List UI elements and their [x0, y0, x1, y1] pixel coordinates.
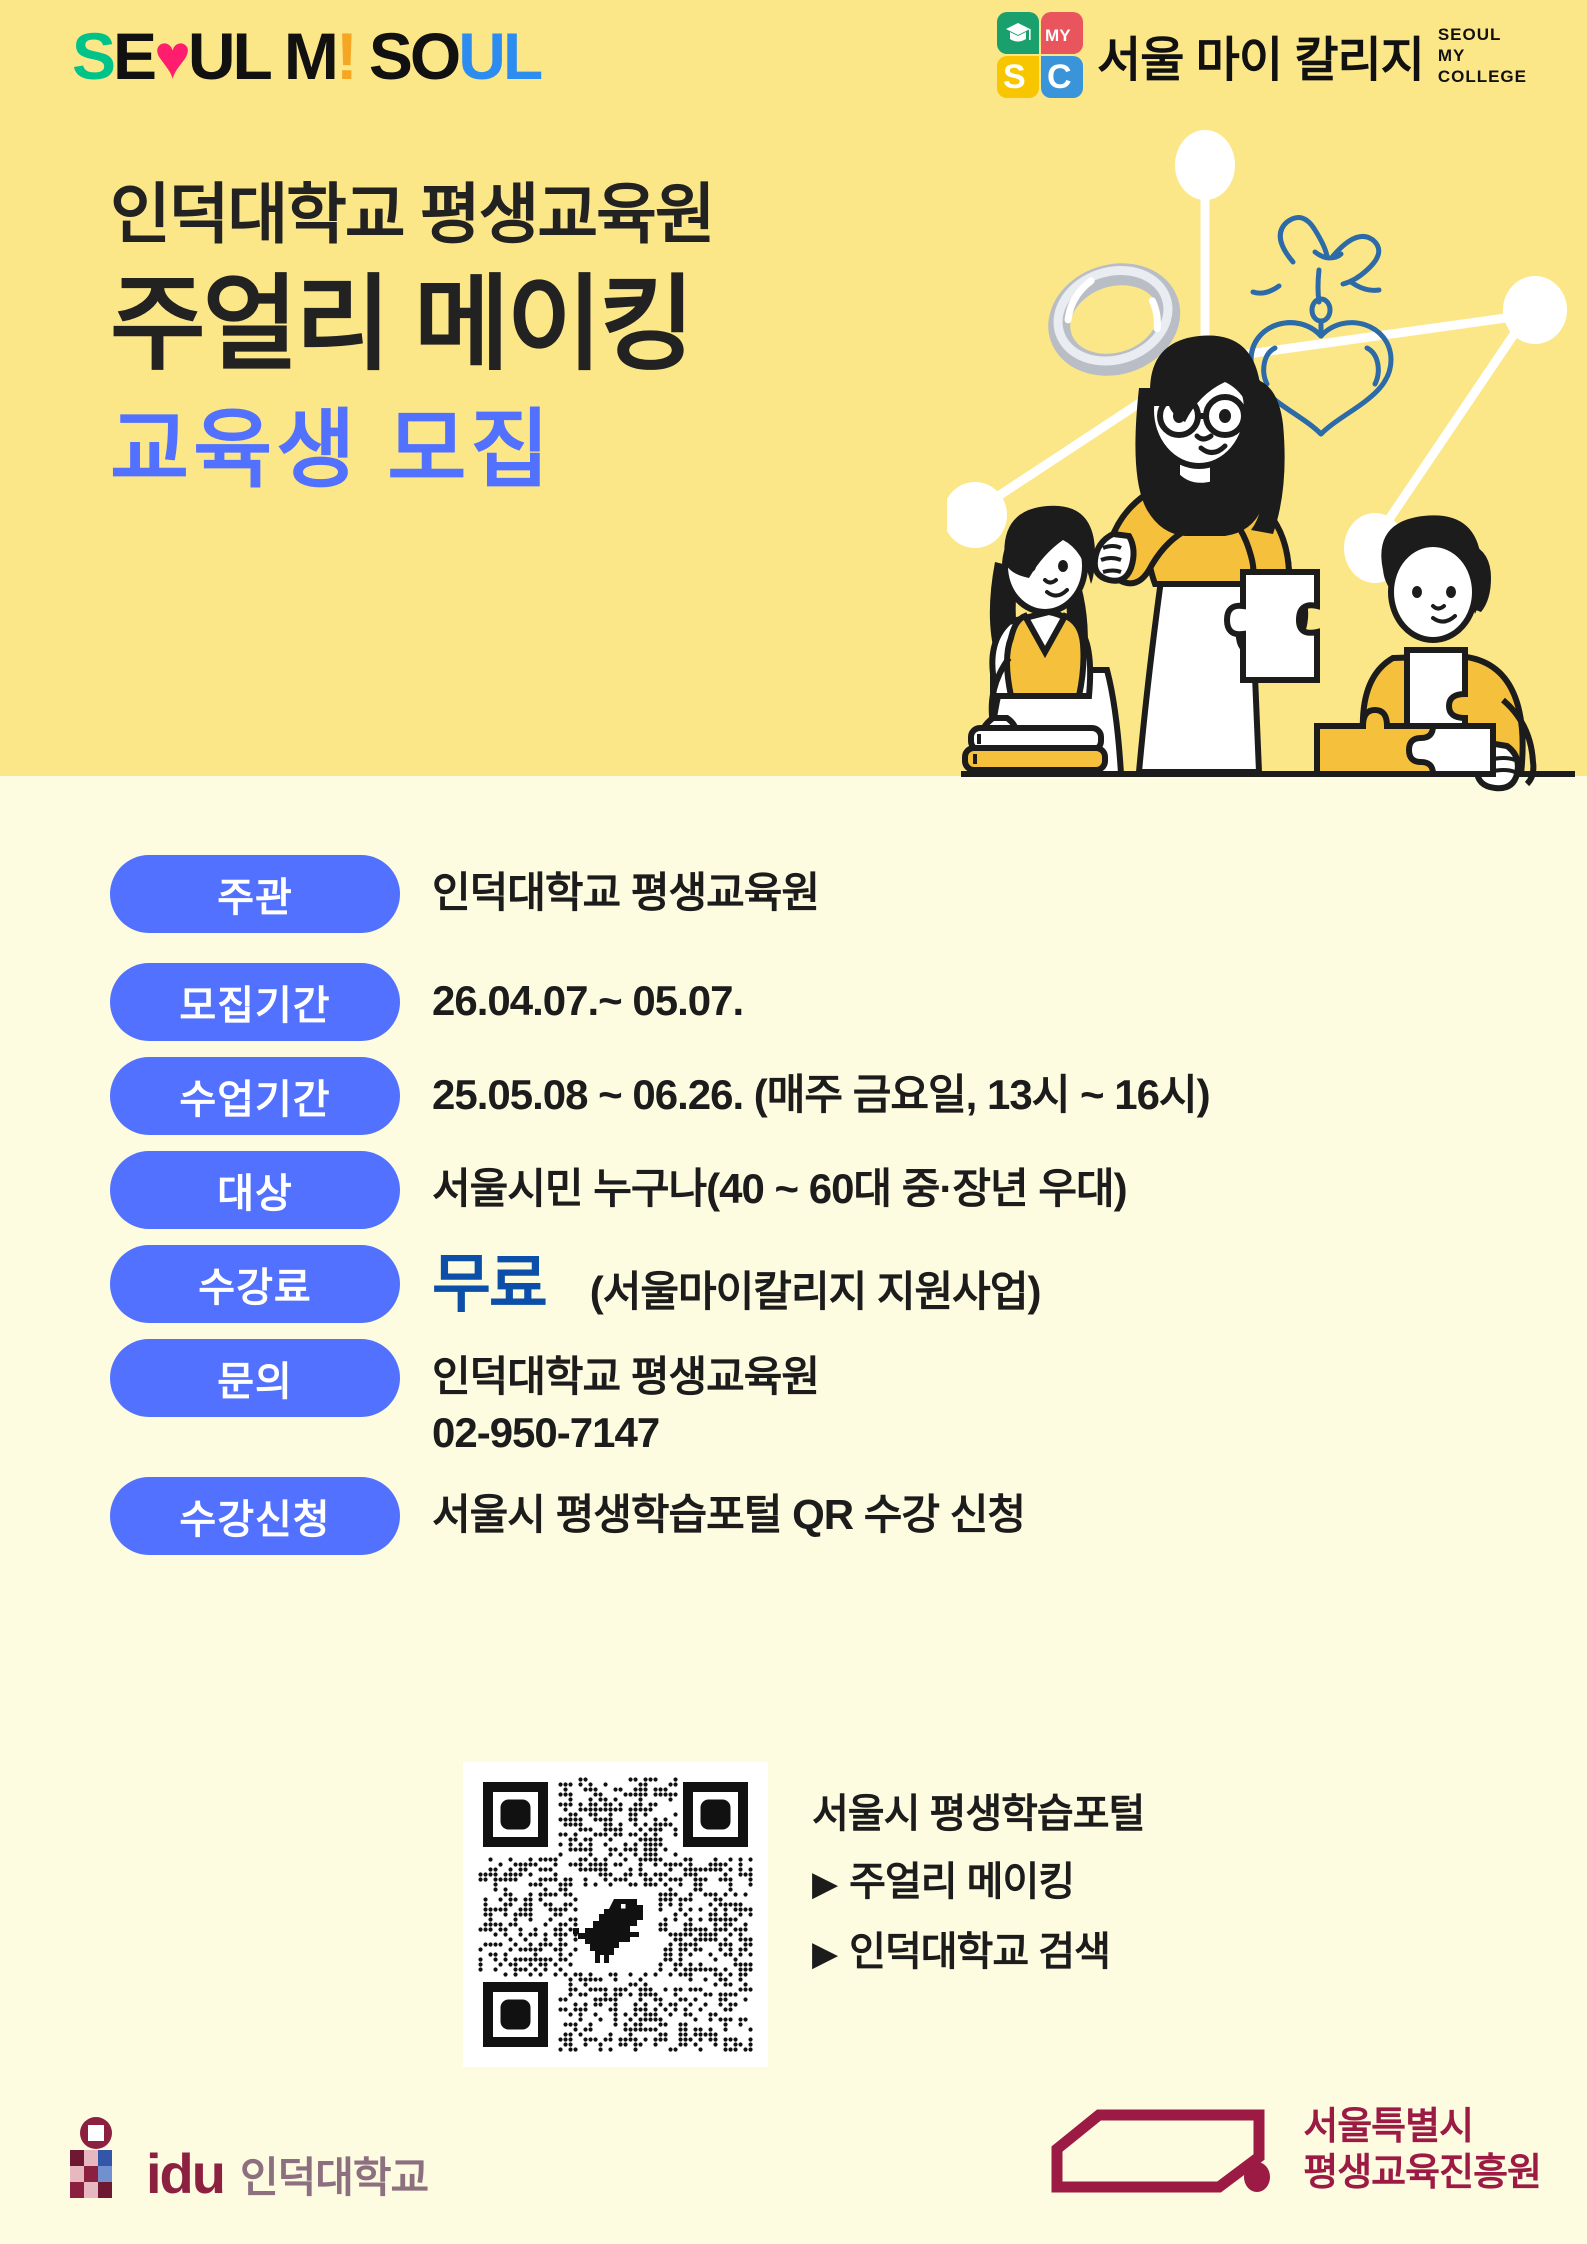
qr-code-svg[interactable]: [463, 1762, 768, 2067]
qr-caption-search-text: 인덕대학교 검색: [849, 1930, 1110, 1974]
exclamation-icon: !: [336, 23, 355, 89]
info-row-host: 주관 인덕대학교 평생교육원: [110, 855, 1510, 933]
smc-s-label: S: [1003, 60, 1026, 94]
info-label-contact: 문의: [110, 1339, 400, 1417]
heart-icon: ♥: [154, 25, 188, 91]
poster-root: SE♥ULM!SOUL MY S C 서울 마이 칼리지 SEOUL MY CO…: [0, 0, 1587, 2244]
sile-wordmark: 서울특별시 평생교육진흥원: [1303, 2104, 1541, 2196]
qr-caption-course-text: 주얼리 메이킹: [849, 1860, 1074, 1904]
seoul-my-college-mark-icon: MY S C: [997, 12, 1083, 98]
qr-caption-course: ▶주얼리 메이킹: [812, 1848, 1144, 1918]
jewelry-illustration: [947, 110, 1587, 810]
info-value-host: 인덕대학교 평생교육원: [432, 855, 1510, 921]
seoul-my-college-logo: MY S C 서울 마이 칼리지 SEOUL MY COLLEGE: [997, 12, 1527, 98]
info-row-target: 대상 서울시민 누구나(40 ~ 60대 중·장년 우대): [110, 1151, 1510, 1229]
info-value-contact: 인덕대학교 평생교육원 02-950-7147: [432, 1339, 1510, 1461]
info-list: 주관 인덕대학교 평생교육원 모집기간 26.04.07.~ 05.07. 수업…: [110, 855, 1510, 1571]
contact-phone: 02-950-7147: [432, 1405, 1510, 1461]
sile-line1: 서울특별시: [1303, 2104, 1541, 2150]
graduation-cap-icon: [1004, 20, 1032, 46]
seoul-my-college-korean: 서울 마이 칼리지: [1097, 20, 1424, 90]
book-stack-icon: [965, 728, 1105, 770]
headline-recruitment: 교육생 모집: [110, 395, 714, 505]
info-row-fee: 수강료 무료 (서울마이칼리지 지원사업): [110, 1245, 1510, 1323]
smc-en-line3: COLLEGE: [1438, 66, 1527, 87]
contact-organization: 인덕대학교 평생교육원: [432, 1349, 1510, 1405]
smc-en-line2: MY: [1438, 45, 1527, 66]
sms-letter-s: S: [72, 23, 113, 89]
info-value-target: 서울시민 누구나(40 ~ 60대 중·장년 우대): [432, 1151, 1510, 1217]
smc-c-label: C: [1047, 60, 1072, 94]
sms-letter-m: M: [284, 23, 336, 89]
idu-korean-name: 인덕대학교: [240, 2154, 428, 2202]
sms-letter-o: O: [410, 23, 458, 89]
headline-course-title: 주얼리 메이킹: [110, 259, 714, 391]
info-value-class-period: 25.05.08 ~ 06.26. (매주 금요일, 13시 ~ 16시): [432, 1057, 1510, 1123]
illustration-svg: [947, 110, 1587, 810]
info-row-apply: 수강신청 서울시 평생학습포털 QR 수강 신청: [110, 1477, 1510, 1555]
sile-mark-icon: [1051, 2107, 1281, 2193]
sms-letter-u2: U: [458, 23, 503, 89]
idu-footer-logo: idu 인덕대학교: [62, 2116, 428, 2202]
info-row-contact: 문의 인덕대학교 평생교육원 02-950-7147: [110, 1339, 1510, 1461]
qr-caption-portal: 서울시 평생학습포털: [812, 1780, 1144, 1848]
sms-letter-s2: S: [369, 23, 410, 89]
info-row-application-period: 모집기간 26.04.07.~ 05.07.: [110, 963, 1510, 1041]
fee-amount: 무료: [432, 1245, 546, 1323]
info-value-apply: 서울시 평생학습포털 QR 수강 신청: [432, 1477, 1510, 1543]
sile-footer-logo: 서울특별시 평생교육진흥원: [1051, 2104, 1541, 2196]
seoul-my-soul-wordmark: SE♥ULM!SOUL: [72, 23, 540, 89]
sms-letter-e: E: [113, 23, 154, 89]
seoul-my-college-english: SEOUL MY COLLEGE: [1438, 24, 1527, 87]
info-row-class-period: 수업기간 25.05.08 ~ 06.26. (매주 금요일, 13시 ~ 16…: [110, 1057, 1510, 1135]
sile-line2: 평생교육진흥원: [1303, 2150, 1541, 2196]
info-label-fee: 수강료: [110, 1245, 400, 1323]
seoul-my-soul-logo: SE♥ULM!SOUL: [72, 20, 540, 92]
sms-letter-u: U: [188, 23, 233, 89]
sms-letter-l2: L: [503, 23, 540, 89]
info-label-class-period: 수업기간: [110, 1057, 400, 1135]
woman-teacher-figure: [1095, 335, 1289, 772]
info-label-apply[interactable]: 수강신청: [110, 1477, 400, 1555]
info-label-target: 대상: [110, 1151, 400, 1229]
teacher-hand-puzzle: [1227, 572, 1317, 680]
qr-code[interactable]: [463, 1762, 768, 2067]
info-value-fee: 무료 (서울마이칼리지 지원사업): [432, 1245, 1510, 1323]
smc-en-line1: SEOUL: [1438, 24, 1527, 45]
triangle-marker-icon-2: ▶: [812, 1935, 837, 1973]
qr-caption-search: ▶인덕대학교 검색: [812, 1918, 1144, 1988]
sms-letter-l: L: [233, 23, 270, 89]
info-label-application-period: 모집기간: [110, 963, 400, 1041]
headline-block: 인덕대학교 평생교육원 주얼리 메이킹 교육생 모집: [110, 175, 714, 505]
triangle-marker-icon: ▶: [812, 1865, 837, 1903]
fee-note: (서울마이칼리지 지원사업): [590, 1264, 1041, 1320]
info-value-application-period: 26.04.07.~ 05.07.: [432, 963, 1510, 1029]
smc-my-label: MY: [1045, 26, 1071, 46]
idu-mark-icon: [62, 2116, 130, 2202]
headline-institute: 인덕대학교 평생교육원: [110, 175, 714, 253]
info-label-host: 주관: [110, 855, 400, 933]
qr-section: 서울시 평생학습포털 ▶주얼리 메이킹 ▶인덕대학교 검색: [463, 1762, 1144, 2067]
idu-wordmark: idu: [146, 2146, 224, 2202]
qr-caption-block: 서울시 평생학습포털 ▶주얼리 메이킹 ▶인덕대학교 검색: [812, 1762, 1144, 1988]
